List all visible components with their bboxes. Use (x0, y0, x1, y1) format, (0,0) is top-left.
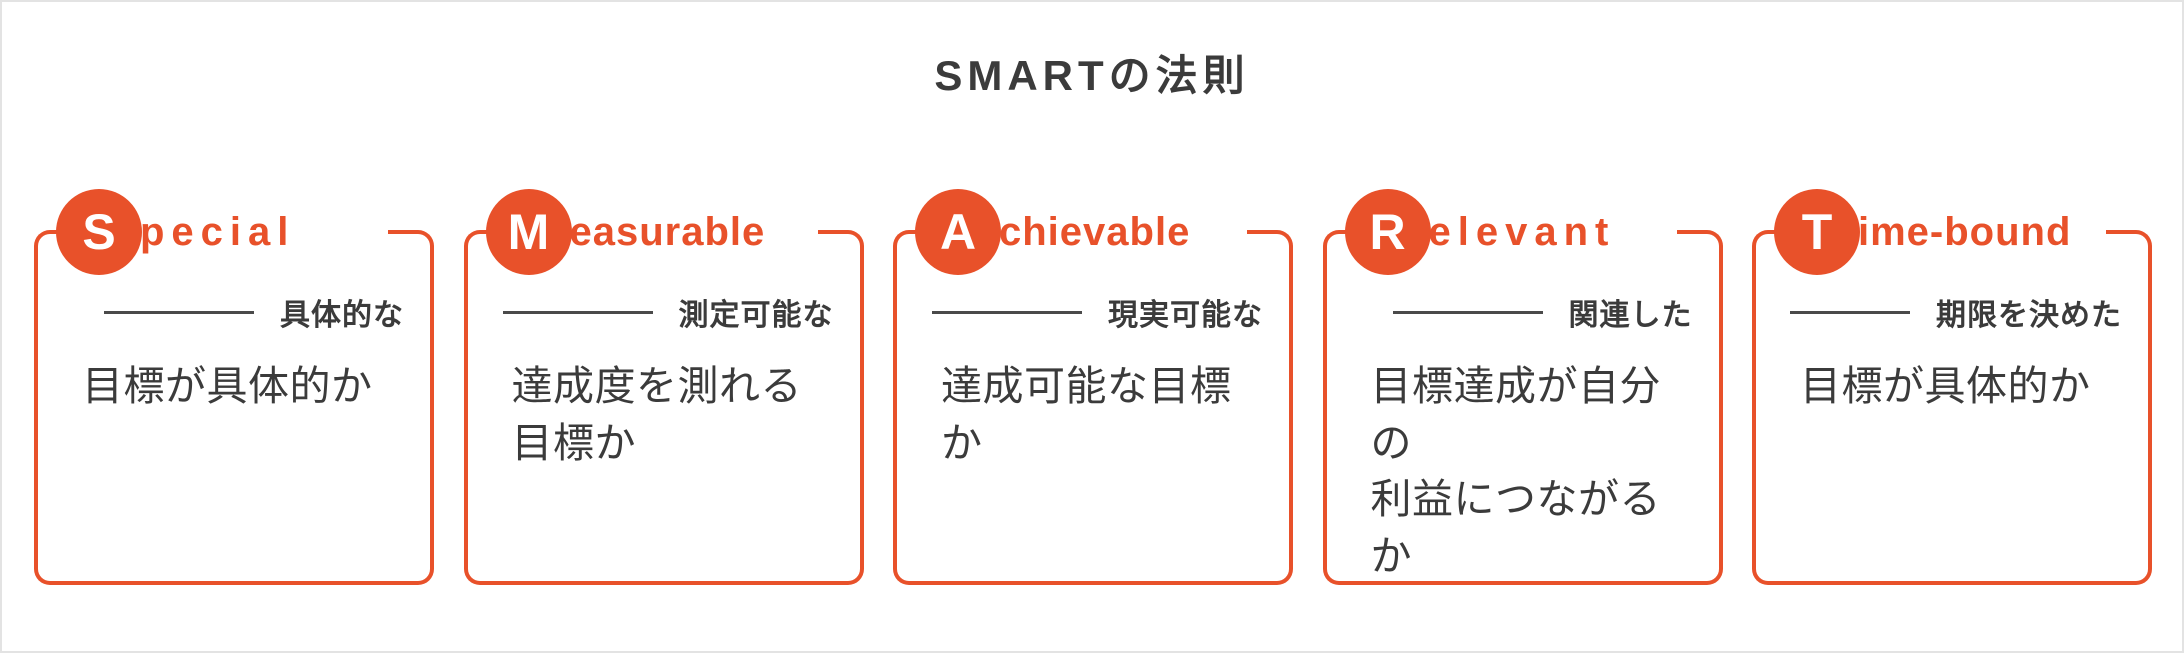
smart-card-measurable: M easurable 測定可能な 達成度を測れる 目標か (464, 230, 864, 585)
subtitle-rule (1790, 311, 1910, 314)
card-bracket-left (893, 230, 939, 585)
card-header: R elevant (1345, 186, 1713, 278)
card-body: 目標が具体的か (1800, 358, 2118, 415)
card-bracket-bottom (506, 581, 822, 585)
card-body: 達成度を測れる 目標か (512, 358, 830, 471)
card-subtitle: 測定可能な (679, 290, 834, 334)
smart-card-special: S pecial 具体的な 目標が具体的か (34, 230, 434, 585)
card-header: S pecial (56, 186, 424, 278)
card-subtitle-row: 測定可能な (502, 290, 834, 334)
card-word-time-bound: ime-bound (1856, 206, 2077, 259)
card-subtitle: 期限を決めた (1936, 290, 2122, 334)
card-bracket-bottom (76, 581, 392, 585)
card-word-relevant: elevant (1427, 206, 1622, 259)
letter-badge-m: M (486, 189, 572, 275)
card-body: 目標が具体的か (82, 358, 400, 415)
card-body: 達成可能な目標か (941, 358, 1259, 471)
card-word-measurable: easurable (568, 206, 772, 259)
card-subtitle: 現実可能な (1108, 290, 1263, 334)
card-subtitle: 関連した (1569, 290, 1693, 334)
card-body: 目標達成が自分の 利益につながるか (1371, 358, 1689, 584)
subtitle-rule (104, 311, 254, 314)
smart-law-infographic: SMARTの法則 S pecial 具体的な 目標が具体的か M easu (0, 0, 2184, 653)
card-subtitle: 具体的な (280, 290, 404, 334)
letter-badge-r: R (1345, 189, 1431, 275)
card-subtitle-row: 関連した (1361, 290, 1693, 334)
card-bracket-left (34, 230, 80, 585)
subtitle-rule (932, 311, 1082, 314)
card-bracket-bottom (935, 581, 1251, 585)
page-title: SMARTの法則 (2, 42, 2182, 103)
card-bracket-left (1323, 230, 1369, 585)
card-word-special: pecial (138, 206, 301, 259)
subtitle-rule (1393, 311, 1543, 314)
card-subtitle-row: 具体的な (72, 290, 404, 334)
card-word-achievable: chievable (997, 206, 1196, 259)
card-header: T ime-bound (1774, 186, 2142, 278)
smart-card-relevant: R elevant 関連した 目標達成が自分の 利益につながるか (1323, 230, 1723, 585)
card-bracket-left (464, 230, 510, 585)
card-bracket-bottom (1794, 581, 2110, 585)
letter-badge-t: T (1774, 189, 1860, 275)
letter-badge-a: A (915, 189, 1001, 275)
smart-card-achievable: A chievable 現実可能な 達成可能な目標か (893, 230, 1293, 585)
card-header: M easurable (486, 186, 854, 278)
smart-card-time-bound: T ime-bound 期限を決めた 目標が具体的か (1752, 230, 2152, 585)
letter-badge-s: S (56, 189, 142, 275)
card-subtitle-row: 期限を決めた (1790, 290, 2122, 334)
card-subtitle-row: 現実可能な (931, 290, 1263, 334)
card-bracket-left (1752, 230, 1798, 585)
card-header: A chievable (915, 186, 1283, 278)
subtitle-rule (503, 311, 653, 314)
smart-card-list: S pecial 具体的な 目標が具体的か M easurable 測定可能な … (34, 230, 2152, 585)
